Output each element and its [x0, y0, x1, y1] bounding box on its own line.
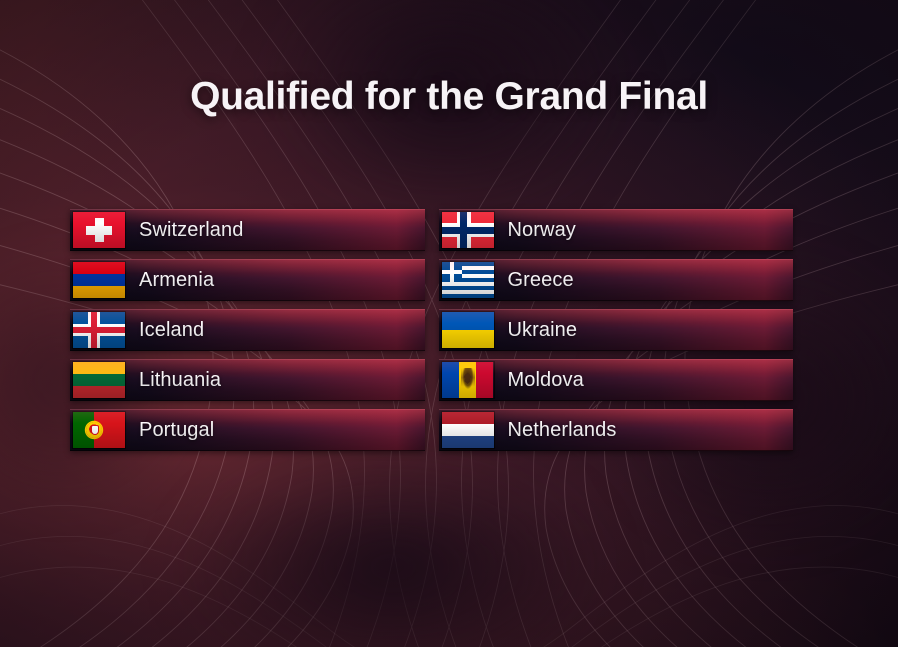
- netherlands-flag: [442, 412, 494, 448]
- country-name: Moldova: [508, 369, 584, 392]
- list-item[interactable]: Lithuania: [70, 359, 425, 401]
- moldova-flag: [442, 362, 494, 398]
- list-item[interactable]: Norway: [439, 209, 794, 251]
- iceland-flag: [73, 312, 125, 348]
- list-item[interactable]: Moldova: [439, 359, 794, 401]
- portugal-flag: [73, 412, 125, 448]
- greece-flag: [442, 262, 494, 298]
- list-item[interactable]: Iceland: [70, 309, 425, 351]
- armenia-flag: [73, 262, 125, 298]
- country-name: Lithuania: [139, 369, 221, 392]
- right-column: Norway Greece Ukraine: [439, 209, 794, 451]
- country-name: Iceland: [139, 319, 204, 342]
- lithuania-flag: [73, 362, 125, 398]
- list-item[interactable]: Armenia: [70, 259, 425, 301]
- left-column: Switzerland Armenia Iceland Lithu: [70, 209, 425, 451]
- ukraine-flag: [442, 312, 494, 348]
- switzerland-flag: [73, 212, 125, 248]
- country-name: Switzerland: [139, 219, 243, 242]
- list-item[interactable]: Greece: [439, 259, 794, 301]
- list-item[interactable]: Ukraine: [439, 309, 794, 351]
- list-item[interactable]: Netherlands: [439, 409, 794, 451]
- slide-root: Qualified for the Grand Final Switzerlan…: [0, 0, 898, 647]
- country-name: Greece: [508, 269, 574, 292]
- country-name: Ukraine: [508, 319, 578, 342]
- list-item[interactable]: Portugal: [70, 409, 425, 451]
- country-name: Netherlands: [508, 419, 617, 442]
- country-name: Armenia: [139, 269, 214, 292]
- country-name: Norway: [508, 219, 576, 242]
- qualifier-columns: Switzerland Armenia Iceland Lithu: [70, 209, 793, 451]
- list-item[interactable]: Switzerland: [70, 209, 425, 251]
- country-name: Portugal: [139, 419, 214, 442]
- page-title: Qualified for the Grand Final: [0, 76, 898, 119]
- norway-flag: [442, 212, 494, 248]
